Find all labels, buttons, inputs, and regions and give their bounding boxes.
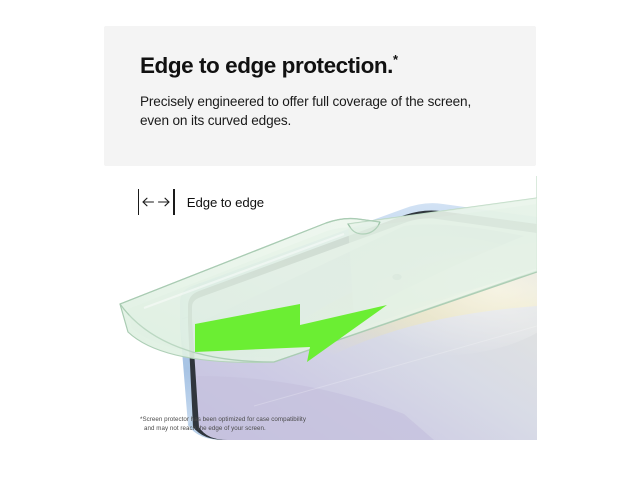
bidirectional-arrow-icon [139, 189, 173, 215]
asterisk-marker: * [393, 52, 398, 67]
footnote: *Screen protector has been optimized for… [140, 415, 400, 433]
footnote-line-2: and may not reach the edge of your scree… [140, 424, 400, 433]
page-subtitle: Precisely engineered to offer full cover… [140, 93, 500, 130]
info-panel: Edge to edge protection.* Precisely engi… [104, 26, 536, 166]
edge-to-edge-annotation: Edge to edge [138, 187, 264, 217]
footnote-line-1: *Screen protector has been optimized for… [140, 416, 306, 423]
page-canvas: Edge to edge protection.* Precisely engi… [0, 0, 640, 480]
page-title-text: Edge to edge protection. [140, 53, 393, 78]
page-title: Edge to edge protection.* [140, 52, 398, 79]
bracket-bar-right [173, 189, 174, 215]
edge-to-edge-label: Edge to edge [187, 195, 264, 210]
